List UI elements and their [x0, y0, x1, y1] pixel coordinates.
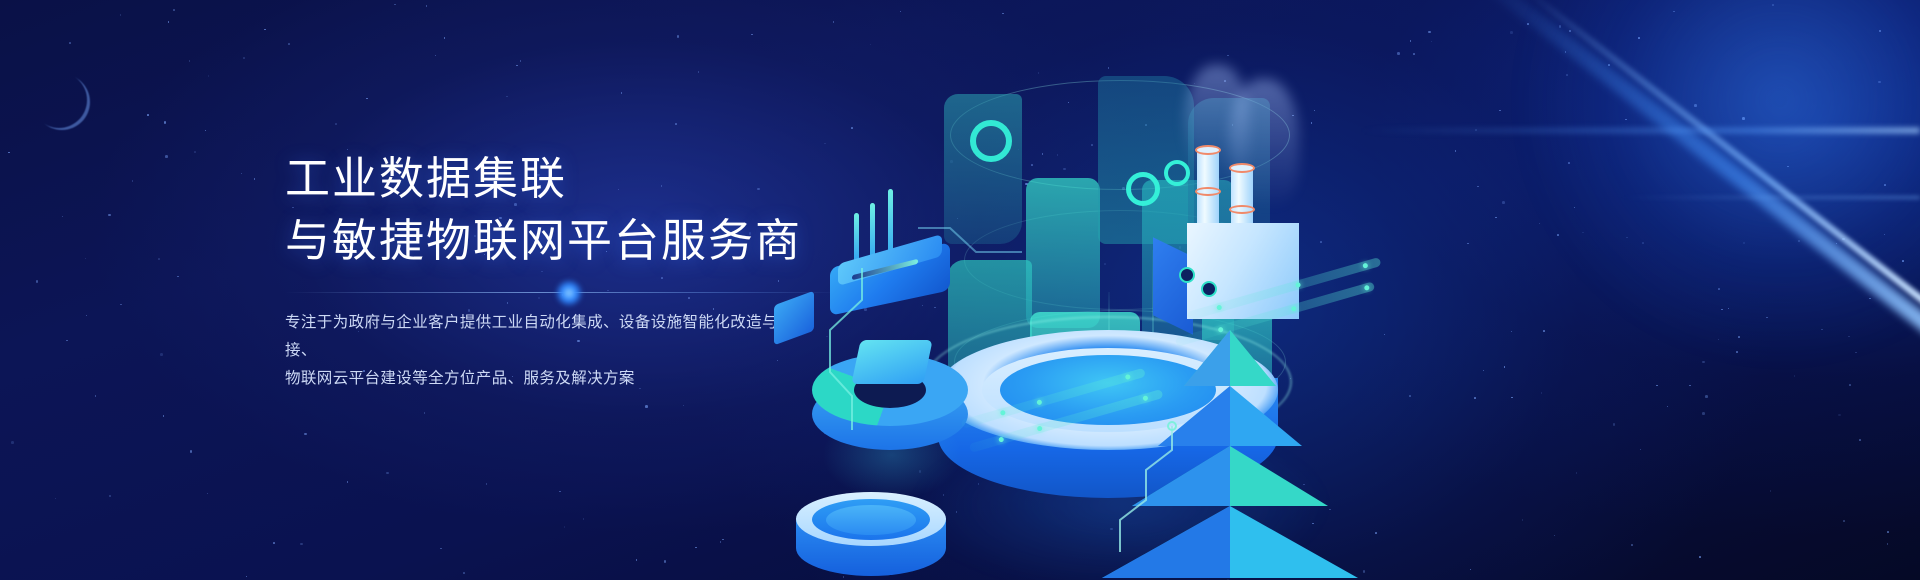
- isometric-iot-illustration: [790, 0, 1920, 580]
- wire-right: [1120, 426, 1172, 552]
- wire-router-link: [918, 228, 1022, 252]
- subtitle-line-2: 物联网云平台建设等全方位产品、服务及解决方案: [285, 370, 635, 387]
- headline-divider: [285, 292, 845, 293]
- wire-left: [830, 268, 862, 430]
- hero-banner: 工业数据集联 与敏捷物联网平台服务商 专注于为政府与企业客户提供工业自动化集成、…: [0, 0, 1920, 580]
- divider-glow: [555, 279, 583, 307]
- subtitle: 专注于为政府与企业客户提供工业自动化集成、设备设施智能化改造与连接、 物联网云平…: [285, 309, 825, 393]
- subtitle-line-1: 专注于为政府与企业客户提供工业自动化集成、设备设施智能化改造与连接、: [285, 314, 794, 359]
- wire-connector-group: [790, 0, 1920, 580]
- crescent-moon-icon: [34, 74, 90, 130]
- title-line-1: 工业数据集联: [285, 153, 567, 204]
